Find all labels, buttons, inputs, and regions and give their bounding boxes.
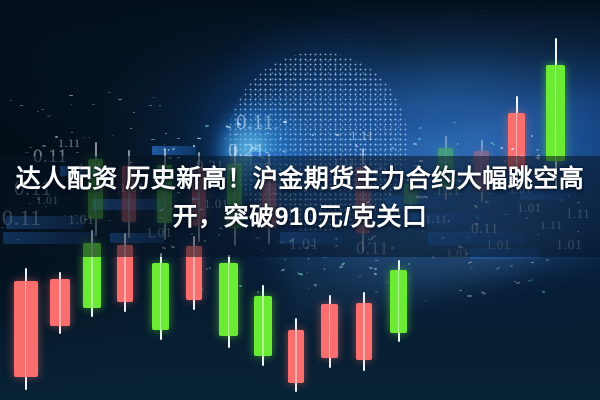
candle-body <box>321 304 338 358</box>
candlestick <box>321 295 338 368</box>
candle-body <box>288 330 304 383</box>
candle-body <box>152 263 169 330</box>
candlestick <box>14 268 38 390</box>
candle-body <box>219 263 238 336</box>
candlestick <box>50 272 70 334</box>
candlestick <box>254 285 272 366</box>
candle-body <box>356 303 372 360</box>
candlestick <box>356 292 372 371</box>
candle-body <box>50 279 70 326</box>
headline-text: 达人配资 历史新高！沪金期货主力合约大幅跳空高 开，突破910元/克关口 <box>0 160 600 236</box>
candle-body <box>390 270 407 333</box>
candle-body <box>254 296 272 356</box>
news-banner-image: 0.110.110.111.011.011.011.111.010.110.21… <box>0 0 600 400</box>
candlestick <box>152 253 169 340</box>
candlestick <box>390 260 407 342</box>
headline-line-2: 开，突破910元/克关口 <box>4 198 596 236</box>
candlestick <box>288 318 304 392</box>
candle-body <box>14 281 38 377</box>
candlestick <box>219 255 238 348</box>
headline-line-1: 达人配资 历史新高！沪金期货主力合约大幅跳空高 <box>4 160 596 198</box>
